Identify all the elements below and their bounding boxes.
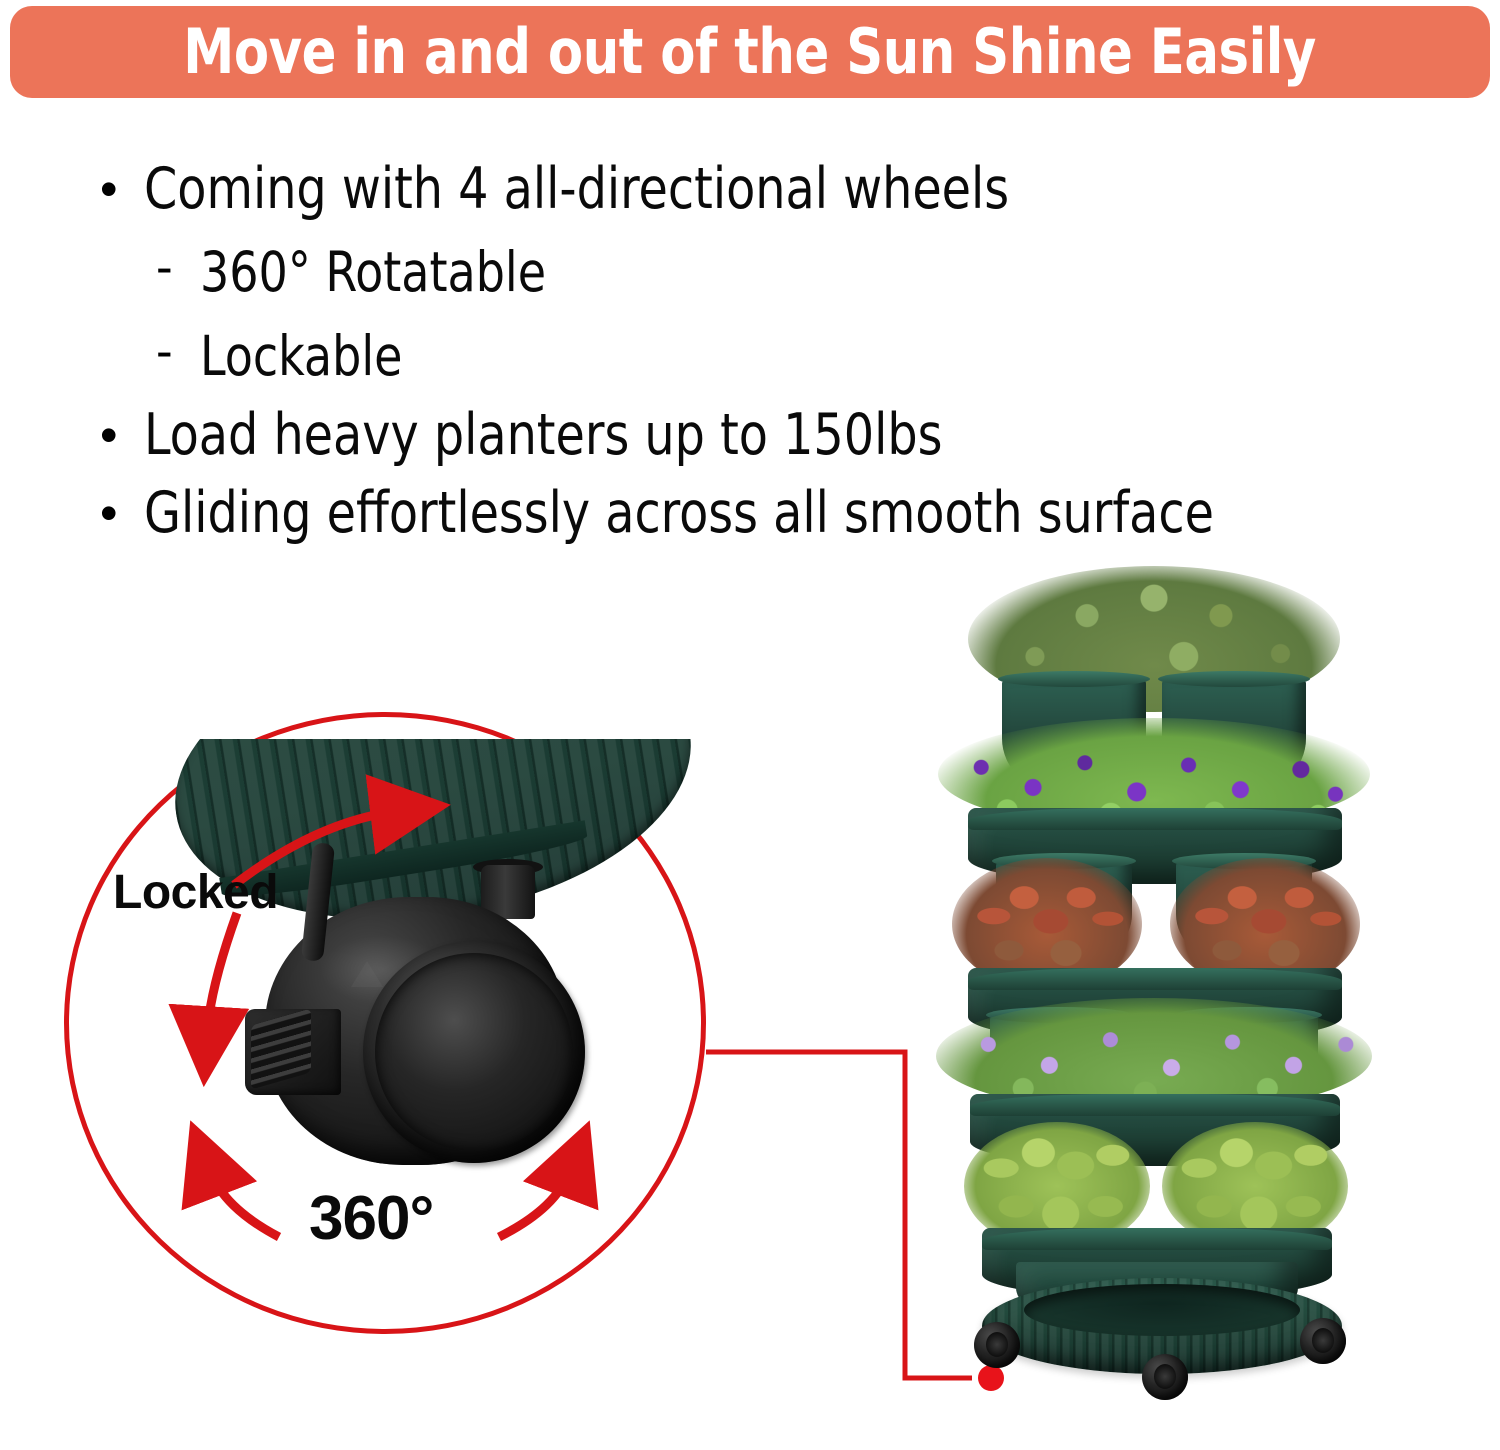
bullet-icon: • [100,398,144,472]
header-banner: Move in and out of the Sun Shine Easily [10,6,1490,98]
feature-item-wheels: • Coming with 4 all-directional wheels [100,152,1490,226]
feature-item-lockable: - Lockable [156,314,1490,398]
feature-item-load: • Load heavy planters up to 150lbs [100,398,1490,472]
page-title: Move in and out of the Sun Shine Easily [184,21,1317,83]
dash-icon: - [156,314,200,388]
feature-item-gliding: • Gliding effortlessly across all smooth… [100,476,1490,550]
bullet-icon: • [100,152,144,226]
rolling-caddy-base [982,1278,1342,1390]
rotation-degree-label: 360° [309,1183,433,1254]
feature-list: • Coming with 4 all-directional wheels -… [100,152,1490,554]
feature-text: Gliding effortlessly across all smooth s… [144,476,1214,550]
bullet-icon: • [100,476,144,550]
feature-text: Load heavy planters up to 150lbs [144,398,942,472]
caster-wheel-left [974,1322,1020,1368]
feature-text: Coming with 4 all-directional wheels [144,152,1009,226]
infographic-page: Move in and out of the Sun Shine Easily … [0,0,1500,1450]
dash-icon: - [156,230,200,304]
caster-wheel-right [1300,1318,1346,1364]
feature-item-rotatable: - 360° Rotatable [156,230,1490,314]
caster-callout-circle: Locked 360° [64,712,706,1334]
feature-text: Lockable [200,314,402,398]
caster-callout-content: Locked 360° [69,717,701,1329]
locked-label: Locked [113,865,278,920]
caster-wheel-front [1142,1354,1188,1400]
product-planter-tower [930,560,1390,1440]
feature-text: 360° Rotatable [200,230,546,314]
